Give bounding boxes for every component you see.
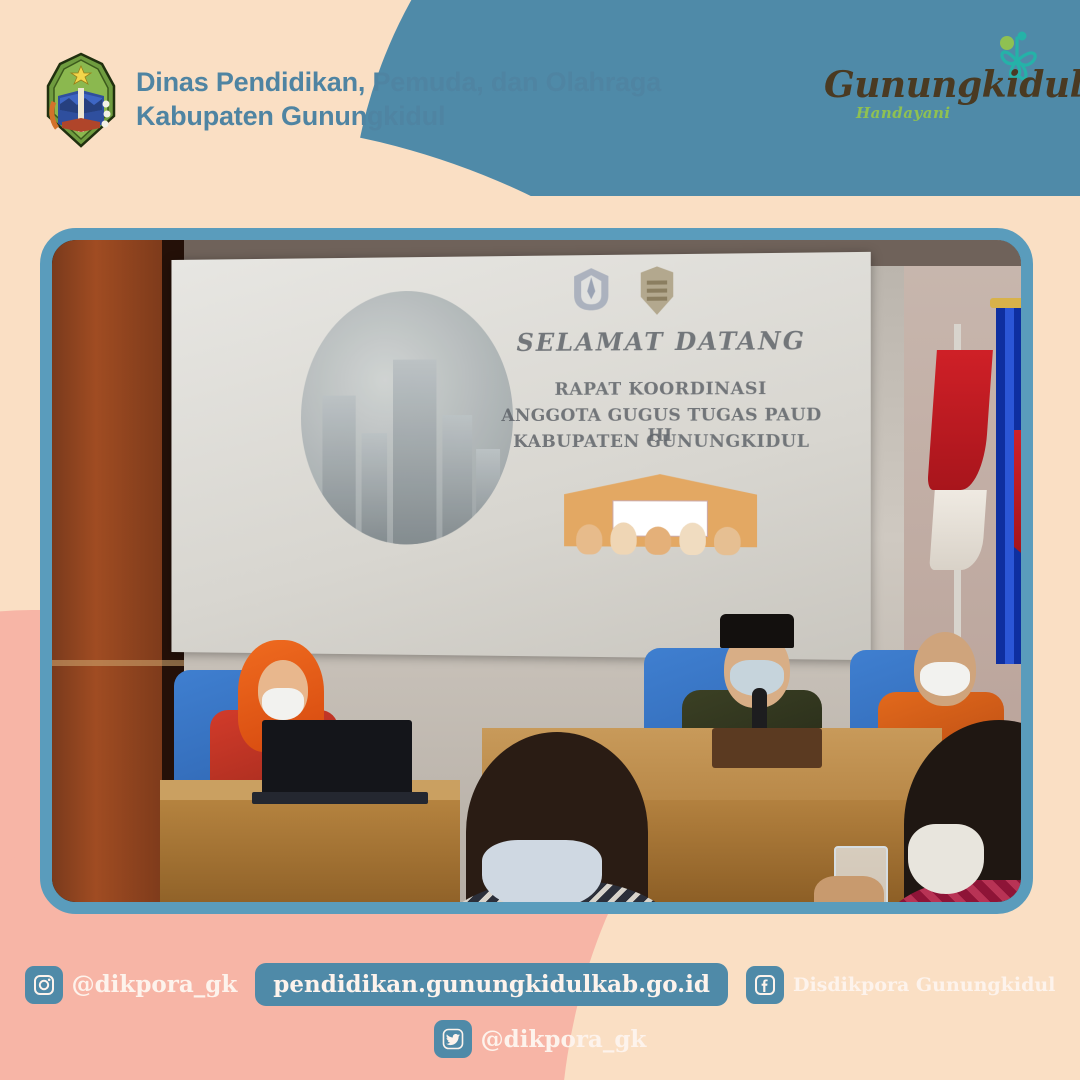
twitter-icon[interactable] xyxy=(434,1020,472,1058)
gunungkidul-brand-logo: Gunungkidul Handayani xyxy=(820,30,1050,135)
slide-line-1: RAPAT KOORDINASI xyxy=(494,379,829,400)
peci-cap xyxy=(720,614,794,648)
meeting-photograph: SELAMAT DATANG RAPAT KOORDINASI ANGGOTA … xyxy=(40,228,1033,914)
twitter-link[interactable]: @dikpora_gk xyxy=(434,1020,647,1058)
facebook-icon[interactable] xyxy=(746,966,784,1004)
twitter-handle: @dikpora_gk xyxy=(481,1026,647,1053)
slide-child-figure xyxy=(679,523,706,555)
brand-wordmark: Gunungkidul xyxy=(824,64,1080,106)
instagram-icon[interactable] xyxy=(25,966,63,1004)
facebook-link[interactable]: Disdikpora Gunungkidul xyxy=(746,966,1055,1004)
poster-canvas: Dinas Pendidikan, Pemuda, dan Olahraga K… xyxy=(0,0,1080,1080)
slide-skyline-image xyxy=(301,290,513,545)
slide-child-figure xyxy=(714,527,741,555)
slide-child-figure xyxy=(610,522,636,554)
photo-content: SELAMAT DATANG RAPAT KOORDINASI ANGGOTA … xyxy=(52,240,1021,902)
header: Dinas Pendidikan, Pemuda, dan Olahraga K… xyxy=(44,52,661,148)
slide-child-figure xyxy=(645,527,671,555)
tut-wuri-handayani-logo-icon xyxy=(568,265,614,314)
slide-line-3: KABUPATEN GUNUNGKIDUL xyxy=(494,432,829,452)
footer-row-secondary: @dikpora_gk xyxy=(0,1020,1080,1058)
foreground-person-left-mask xyxy=(482,840,602,902)
facebook-page-name: Disdikpora Gunungkidul xyxy=(793,974,1055,996)
podium-box xyxy=(712,728,822,768)
instagram-link[interactable]: @dikpora_gk xyxy=(25,966,238,1004)
regency-crest-icon-slide xyxy=(635,264,680,317)
laptop xyxy=(262,720,412,796)
slide-welcome-text: SELAMAT DATANG xyxy=(494,326,829,357)
footer-row-primary: @dikpora_gk pendidikan.gunungkidulkab.go… xyxy=(0,963,1080,1006)
room-wood-panel xyxy=(52,240,162,902)
slide-child-figure xyxy=(576,524,602,554)
table-left xyxy=(160,800,460,902)
website-url[interactable]: pendidikan.gunungkidulkab.go.id xyxy=(255,963,728,1006)
projection-screen: SELAMAT DATANG RAPAT KOORDINASI ANGGOTA … xyxy=(171,252,870,660)
instagram-handle: @dikpora_gk xyxy=(72,971,238,998)
regency-crest-icon xyxy=(44,52,118,148)
foreground-person-right-mask xyxy=(908,824,984,894)
wall-trim xyxy=(52,660,184,666)
person-right-mask xyxy=(920,662,970,696)
person-left-mask xyxy=(262,688,304,720)
page-title: Dinas Pendidikan, Pemuda, dan Olahraga K… xyxy=(136,66,661,134)
laptop-base xyxy=(252,792,428,804)
footer: @dikpora_gk pendidikan.gunungkidulkab.go… xyxy=(0,963,1080,1058)
curtain-rod xyxy=(990,298,1021,308)
brand-tagline: Handayani xyxy=(856,104,951,122)
hand-holding-cup xyxy=(814,876,884,902)
